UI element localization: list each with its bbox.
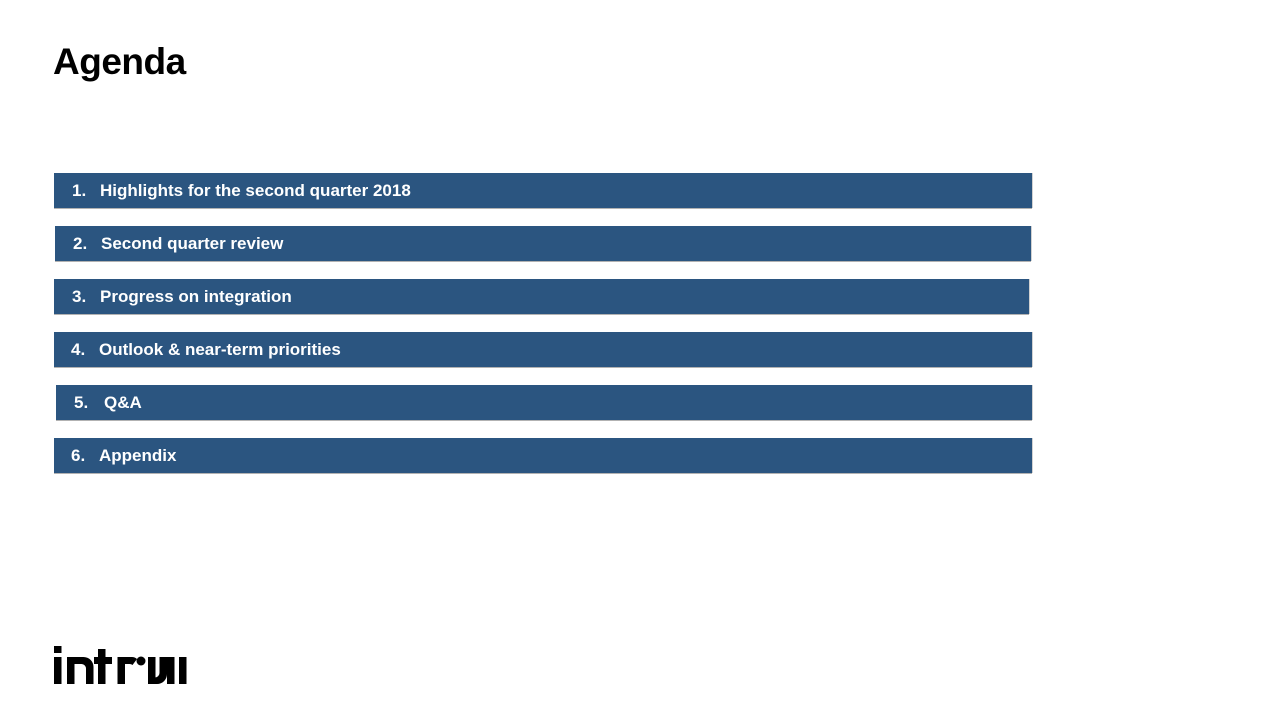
agenda-item-1-number: 1.: [72, 181, 100, 201]
agenda-item-5-number: 5.: [74, 393, 104, 413]
agenda-item-4-label: Outlook & near-term priorities: [99, 340, 341, 360]
agenda-item-1[interactable]: 1. Highlights for the second quarter 201…: [54, 173, 1032, 208]
agenda-item-3[interactable]: 3. Progress on integration: [54, 279, 1029, 314]
agenda-list: 1. Highlights for the second quarter 201…: [0, 173, 1280, 491]
agenda-item-1-label: Highlights for the second quarter 2018: [100, 181, 411, 201]
agenda-item-6-label: Appendix: [99, 446, 176, 466]
agenda-item-4-number: 4.: [71, 340, 99, 360]
page-title: Agenda: [53, 42, 186, 83]
agenda-item-3-label: Progress on integration: [100, 287, 292, 307]
agenda-item-2[interactable]: 2. Second quarter review: [55, 226, 1031, 261]
agenda-item-5[interactable]: 5. Q&A: [56, 385, 1032, 420]
intrum-logo-icon: [53, 646, 187, 686]
agenda-item-3-number: 3.: [72, 287, 100, 307]
agenda-item-6[interactable]: 6. Appendix: [54, 438, 1032, 473]
intrum-logo: [53, 645, 187, 687]
agenda-item-4[interactable]: 4. Outlook & near-term priorities: [54, 332, 1032, 367]
agenda-item-2-number: 2.: [73, 234, 101, 254]
slide-canvas: Agenda 1. Highlights for the second quar…: [0, 0, 1280, 720]
agenda-item-5-label: Q&A: [104, 393, 142, 413]
agenda-item-6-number: 6.: [71, 446, 99, 466]
agenda-item-2-label: Second quarter review: [101, 234, 283, 254]
